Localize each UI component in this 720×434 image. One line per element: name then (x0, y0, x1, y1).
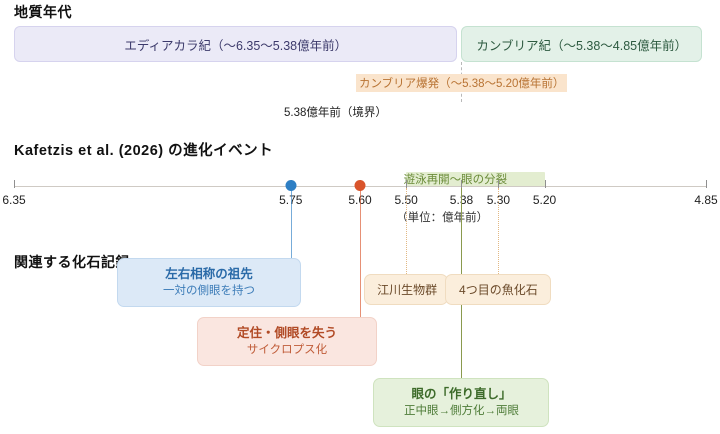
callout-cyclops-title: 定住・側眼を失う (208, 325, 366, 342)
fossil-chip-ejiang-biota[interactable]: 江川生物群 (364, 274, 448, 305)
boundary-age-label: 5.38億年前（境界） (284, 104, 387, 120)
geologic-era-title: 地質年代 (14, 2, 72, 22)
fossil-chip-four-eyed-fish[interactable]: 4つ目の魚化石 (445, 274, 551, 305)
era-label-cambrian: カンブリア紀（〜5.38〜4.85億年前） (476, 35, 687, 54)
evolution-events-title: Kafetzis et al. (2026) の進化イベント (14, 139, 273, 160)
callout-bilateral-ancestor[interactable]: 左右相称の祖先 一対の側眼を持つ (117, 258, 301, 307)
callout-bilateral-subtitle: 一対の側眼を持つ (128, 283, 290, 299)
callout-cyclops[interactable]: 定住・側眼を失う サイクロプス化 (197, 317, 377, 366)
axis-unit-label: （単位：億年前） (396, 209, 488, 225)
era-bar-cambrian: カンブリア紀（〜5.38〜4.85億年前） (461, 26, 702, 62)
axis-tick (461, 180, 462, 188)
axis-tick-label: 6.35 (2, 193, 25, 207)
guide-line-four-eyed-fish (498, 188, 499, 274)
cambrian-explosion-label: カンブリア爆発（〜5.38〜5.20億年前） (356, 74, 567, 92)
event-dot-cyclops[interactable] (355, 180, 366, 191)
callout-bilateral-title: 左右相称の祖先 (128, 266, 290, 283)
axis-tick (545, 180, 546, 188)
axis-tick (406, 180, 407, 188)
axis-tick (498, 180, 499, 188)
callout-eye-rebuild-title: 眼の「作り直し」 (384, 386, 538, 403)
callout-eye-rebuild[interactable]: 眼の「作り直し」 正中眼→側方化→両眼 (373, 378, 549, 427)
era-bar-ediacaran: エディアカラ紀（〜6.35〜5.38億年前） (14, 26, 457, 62)
timeline-diagram: 地質年代 エディアカラ紀（〜6.35〜5.38億年前） カンブリア紀（〜5.38… (0, 0, 720, 434)
guide-line-ejiang-biota (406, 188, 407, 274)
axis-tick (14, 180, 15, 188)
range-label-swim-resume: 遊泳再開〜眼の分裂 (404, 171, 508, 187)
axis-tick-label: 4.85 (694, 193, 717, 207)
connector-bilateral-ancestor (291, 188, 292, 258)
axis-tick-label: 5.20 (533, 193, 556, 207)
connector-cyclops (360, 188, 361, 317)
fossil-record-title: 関連する化石記録 (14, 252, 130, 272)
callout-eye-rebuild-subtitle: 正中眼→側方化→両眼 (384, 403, 538, 419)
era-label-ediacaran: エディアカラ紀（〜6.35〜5.38億年前） (124, 35, 347, 54)
callout-cyclops-subtitle: サイクロプス化 (208, 342, 366, 358)
event-dot-bilateral-ancestor[interactable] (285, 180, 296, 191)
axis-tick (706, 180, 707, 188)
